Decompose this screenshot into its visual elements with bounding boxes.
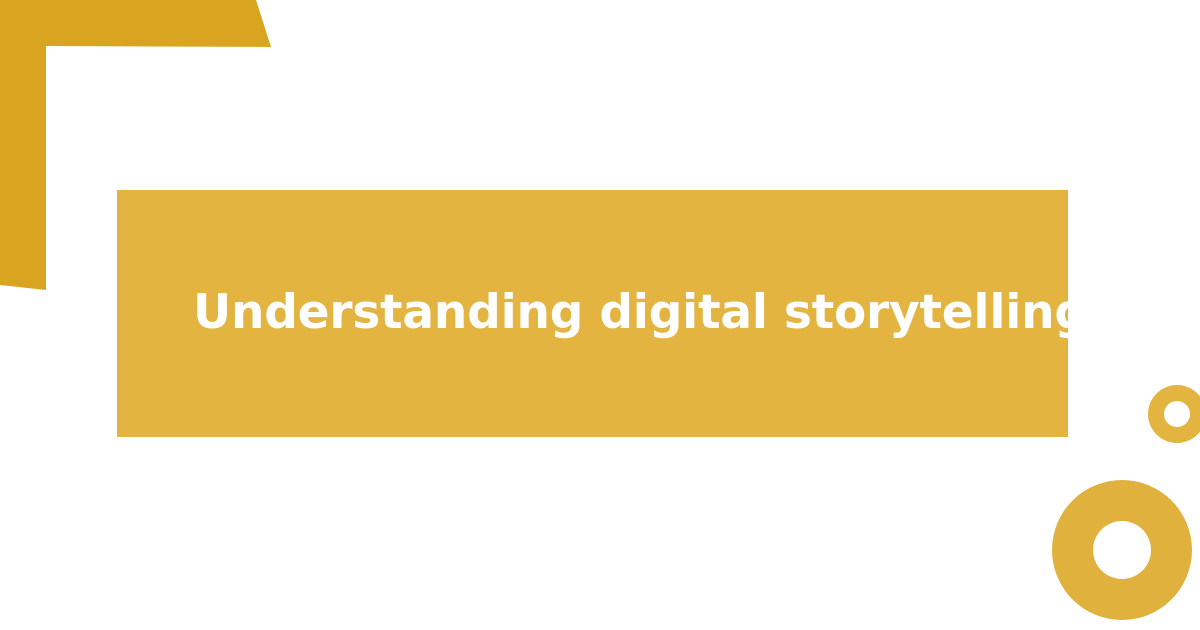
title-banner: Understanding digital storytelling [117,190,1068,437]
small-ring-icon [1148,385,1200,443]
large-ring-icon [1052,480,1192,620]
banner-canvas: Understanding digital storytelling [0,0,1200,630]
banner-title: Understanding digital storytelling [193,286,1088,340]
